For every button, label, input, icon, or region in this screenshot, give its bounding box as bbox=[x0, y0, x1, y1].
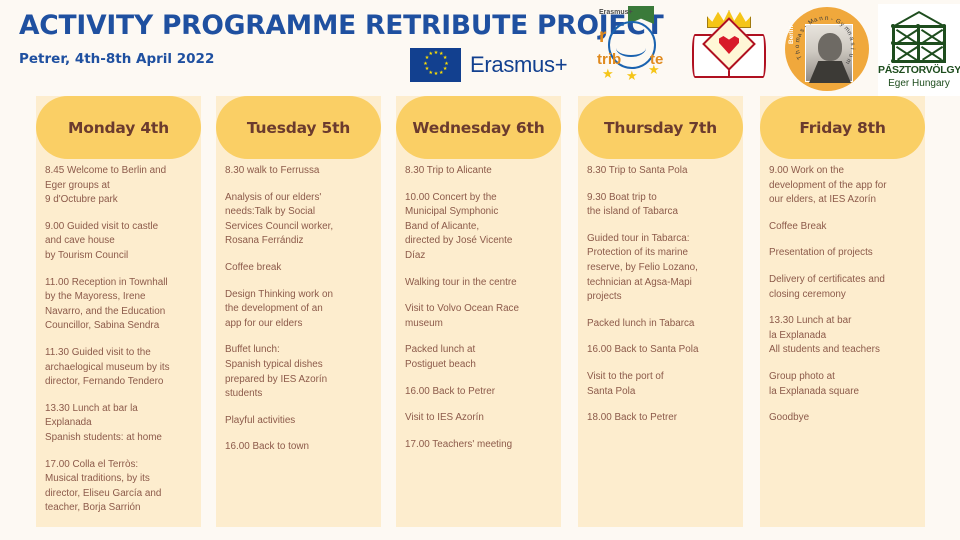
page-subtitle: Petrer, 4th-8th April 2022 bbox=[19, 51, 214, 67]
activity-item: Packed lunch at Postiguet beach bbox=[405, 343, 557, 372]
star-icon: ★ bbox=[425, 68, 428, 71]
day-header-pill[interactable]: Wednesday 6th bbox=[396, 96, 561, 159]
day-column: Monday 4th8.45 Welcome to Berlin and Ege… bbox=[36, 96, 201, 527]
arc-char: o bbox=[794, 44, 801, 48]
partner-logos: Erasmus+ r trib te ★ ★ ★ Thomas-Mann-G bbox=[592, 4, 960, 96]
activity-item: Design Thinking work on the development … bbox=[225, 288, 377, 332]
star-icon: ★ bbox=[648, 62, 660, 78]
eu-flag-icon: ★★★★★★★★★★★★ bbox=[410, 48, 461, 82]
tmg-berlin-label: Berlin bbox=[788, 26, 795, 44]
retribute-erasmus-label: Erasmus+ bbox=[599, 9, 633, 16]
activity-item: 13.30 Lunch at bar la Explanada All stud… bbox=[769, 314, 921, 358]
activity-item: Goodbye bbox=[769, 411, 921, 426]
activity-item: 18.00 Back to Petrer bbox=[587, 411, 739, 426]
activity-item: Coffee Break bbox=[769, 220, 921, 235]
day-activity-list: 8.30 Trip to Santa Pola9.30 Boat trip to… bbox=[587, 164, 739, 438]
activity-item: Visit to the port of Santa Pola bbox=[587, 370, 739, 399]
activity-item: Analysis of our elders' needs:Talk by So… bbox=[225, 191, 377, 249]
day-header-pill[interactable]: Friday 8th bbox=[760, 96, 925, 159]
star-icon: ★ bbox=[423, 63, 426, 66]
activity-item: 8.30 walk to Ferrussa bbox=[225, 164, 377, 179]
day-activity-list: 8.30 walk to FerrussaAnalysis of our eld… bbox=[225, 164, 377, 467]
activity-item: 9.00 Guided visit to castle and cave hou… bbox=[45, 220, 197, 264]
activity-item: Buffet lunch: Spanish typical dishes pre… bbox=[225, 343, 377, 401]
day-header-label: Monday 4th bbox=[68, 119, 169, 137]
star-icon: ★ bbox=[434, 73, 437, 76]
arc-char: s bbox=[849, 42, 856, 46]
day-header-label: Thursday 7th bbox=[604, 119, 717, 137]
activity-item: 16.00 Back to Petrer bbox=[405, 385, 557, 400]
day-header-label: Tuesday 5th bbox=[247, 119, 350, 137]
day-header-label: Wednesday 6th bbox=[412, 119, 544, 137]
frame-node bbox=[942, 24, 946, 28]
programme-board: Monday 4th8.45 Welcome to Berlin and Ege… bbox=[0, 96, 960, 540]
activity-item: Packed lunch in Tabarca bbox=[587, 317, 739, 332]
arc-char: n bbox=[825, 15, 828, 22]
activity-item: 17.00 Teachers' meeting bbox=[405, 438, 557, 453]
arc-char: n bbox=[819, 15, 824, 23]
arc-char: i bbox=[849, 48, 856, 50]
star-icon: ★ bbox=[626, 68, 638, 84]
day-header-pill[interactable]: Thursday 7th bbox=[578, 96, 743, 159]
star-icon: ★ bbox=[425, 57, 428, 60]
day-activity-list: 9.00 Work on the development of the app … bbox=[769, 164, 921, 438]
day-activity-list: 8.30 Trip to Alicante10.00 Concert by th… bbox=[405, 164, 557, 464]
activity-item: Guided tour in Tabarca: Protection of it… bbox=[587, 232, 739, 305]
pasztorvolgyi-location: Eger Hungary bbox=[878, 78, 960, 89]
activity-item: 9.30 Boat trip to the island of Tabarca bbox=[587, 191, 739, 220]
day-column: Wednesday 6th8.30 Trip to Alicante10.00 … bbox=[396, 96, 561, 527]
star-icon: ★ bbox=[429, 53, 432, 56]
activity-item: Coffee break bbox=[225, 261, 377, 276]
roof-icon bbox=[894, 11, 944, 25]
day-column: Thursday 7th8.30 Trip to Santa Pola9.30 … bbox=[578, 96, 743, 527]
pasztorvolgyi-logo: PÁSZTORVÖLGYI Eger Hungary bbox=[878, 4, 960, 96]
activity-item: Delivery of certificates and closing cer… bbox=[769, 273, 921, 302]
star-icon: ★ bbox=[602, 66, 614, 82]
activity-item: 10.00 Concert by the Municipal Symphonic… bbox=[405, 191, 557, 264]
activity-item: 11.30 Guided visit to the archaelogical … bbox=[45, 346, 197, 390]
ies-azorin-crest-logo bbox=[686, 4, 772, 96]
activity-item: 8.30 Trip to Santa Pola bbox=[587, 164, 739, 179]
erasmus-plus-logo: ★★★★★★★★★★★★ Erasmus+ bbox=[410, 48, 567, 82]
activity-item: Presentation of projects bbox=[769, 246, 921, 261]
day-header-pill[interactable]: Monday 4th bbox=[36, 96, 201, 159]
activity-item: 16.00 Back to Santa Pola bbox=[587, 343, 739, 358]
frame-node bbox=[942, 59, 946, 63]
frame-node bbox=[942, 41, 946, 45]
building-frame-icon bbox=[888, 11, 950, 63]
activity-item: 13.30 Lunch at bar la Explanada Spanish … bbox=[45, 402, 197, 446]
retribute-logo: Erasmus+ r trib te ★ ★ ★ bbox=[592, 4, 676, 96]
star-icon: ★ bbox=[439, 72, 442, 75]
frame-node bbox=[916, 41, 920, 45]
frame-node bbox=[916, 59, 920, 63]
erasmus-plus-label: Erasmus+ bbox=[470, 52, 567, 78]
day-column: Friday 8th9.00 Work on the development o… bbox=[760, 96, 925, 527]
day-activity-list: 8.45 Welcome to Berlin and Eger groups a… bbox=[45, 164, 197, 528]
frame-node bbox=[891, 24, 895, 28]
activity-item: Walking tour in the centre bbox=[405, 276, 557, 291]
activity-item: 11.00 Reception in Townhall by the Mayor… bbox=[45, 276, 197, 334]
activity-item: Visit to Volvo Ocean Race museum bbox=[405, 302, 557, 331]
retribute-letter-r: r bbox=[599, 26, 606, 48]
star-icon: ★ bbox=[434, 52, 437, 55]
activity-item: 17.00 Colla el Terròs: Musical tradition… bbox=[45, 458, 197, 516]
activity-item: Visit to IES Azorín bbox=[405, 411, 557, 426]
activity-item: 8.30 Trip to Alicante bbox=[405, 164, 557, 179]
star-icon: ★ bbox=[429, 72, 432, 75]
day-header-label: Friday 8th bbox=[799, 119, 885, 137]
arc-char: m bbox=[844, 57, 853, 65]
arc-char: - bbox=[830, 16, 833, 23]
page-title: ACTIVITY PROGRAMME RETRIBUTE PROJECT bbox=[19, 10, 663, 41]
frame-node bbox=[891, 59, 895, 63]
activity-item: Playful activities bbox=[225, 414, 377, 429]
frame-node bbox=[916, 24, 920, 28]
tmg-arc-label: Thomas-Mann-Gymnasium bbox=[789, 10, 861, 82]
frame-node bbox=[891, 41, 895, 45]
activity-item: 16.00 Back to town bbox=[225, 440, 377, 455]
activity-item: 9.00 Work on the development of the app … bbox=[769, 164, 921, 208]
thomas-mann-gymnasium-logo: Thomas-Mann-Gymnasium Berlin bbox=[782, 4, 868, 96]
page-header: ACTIVITY PROGRAMME RETRIBUTE PROJECT Pet… bbox=[0, 0, 960, 96]
arc-char: T bbox=[796, 54, 804, 61]
activity-item: 8.45 Welcome to Berlin and Eger groups a… bbox=[45, 164, 197, 208]
day-column: Tuesday 5th8.30 walk to FerrussaAnalysis… bbox=[216, 96, 381, 527]
pasztorvolgyi-name: PÁSZTORVÖLGYI bbox=[878, 64, 960, 76]
arc-char: u bbox=[847, 53, 855, 58]
activity-item: Group photo at la Explanada square bbox=[769, 370, 921, 399]
day-header-pill[interactable]: Tuesday 5th bbox=[216, 96, 381, 159]
arc-char: a bbox=[848, 36, 856, 42]
